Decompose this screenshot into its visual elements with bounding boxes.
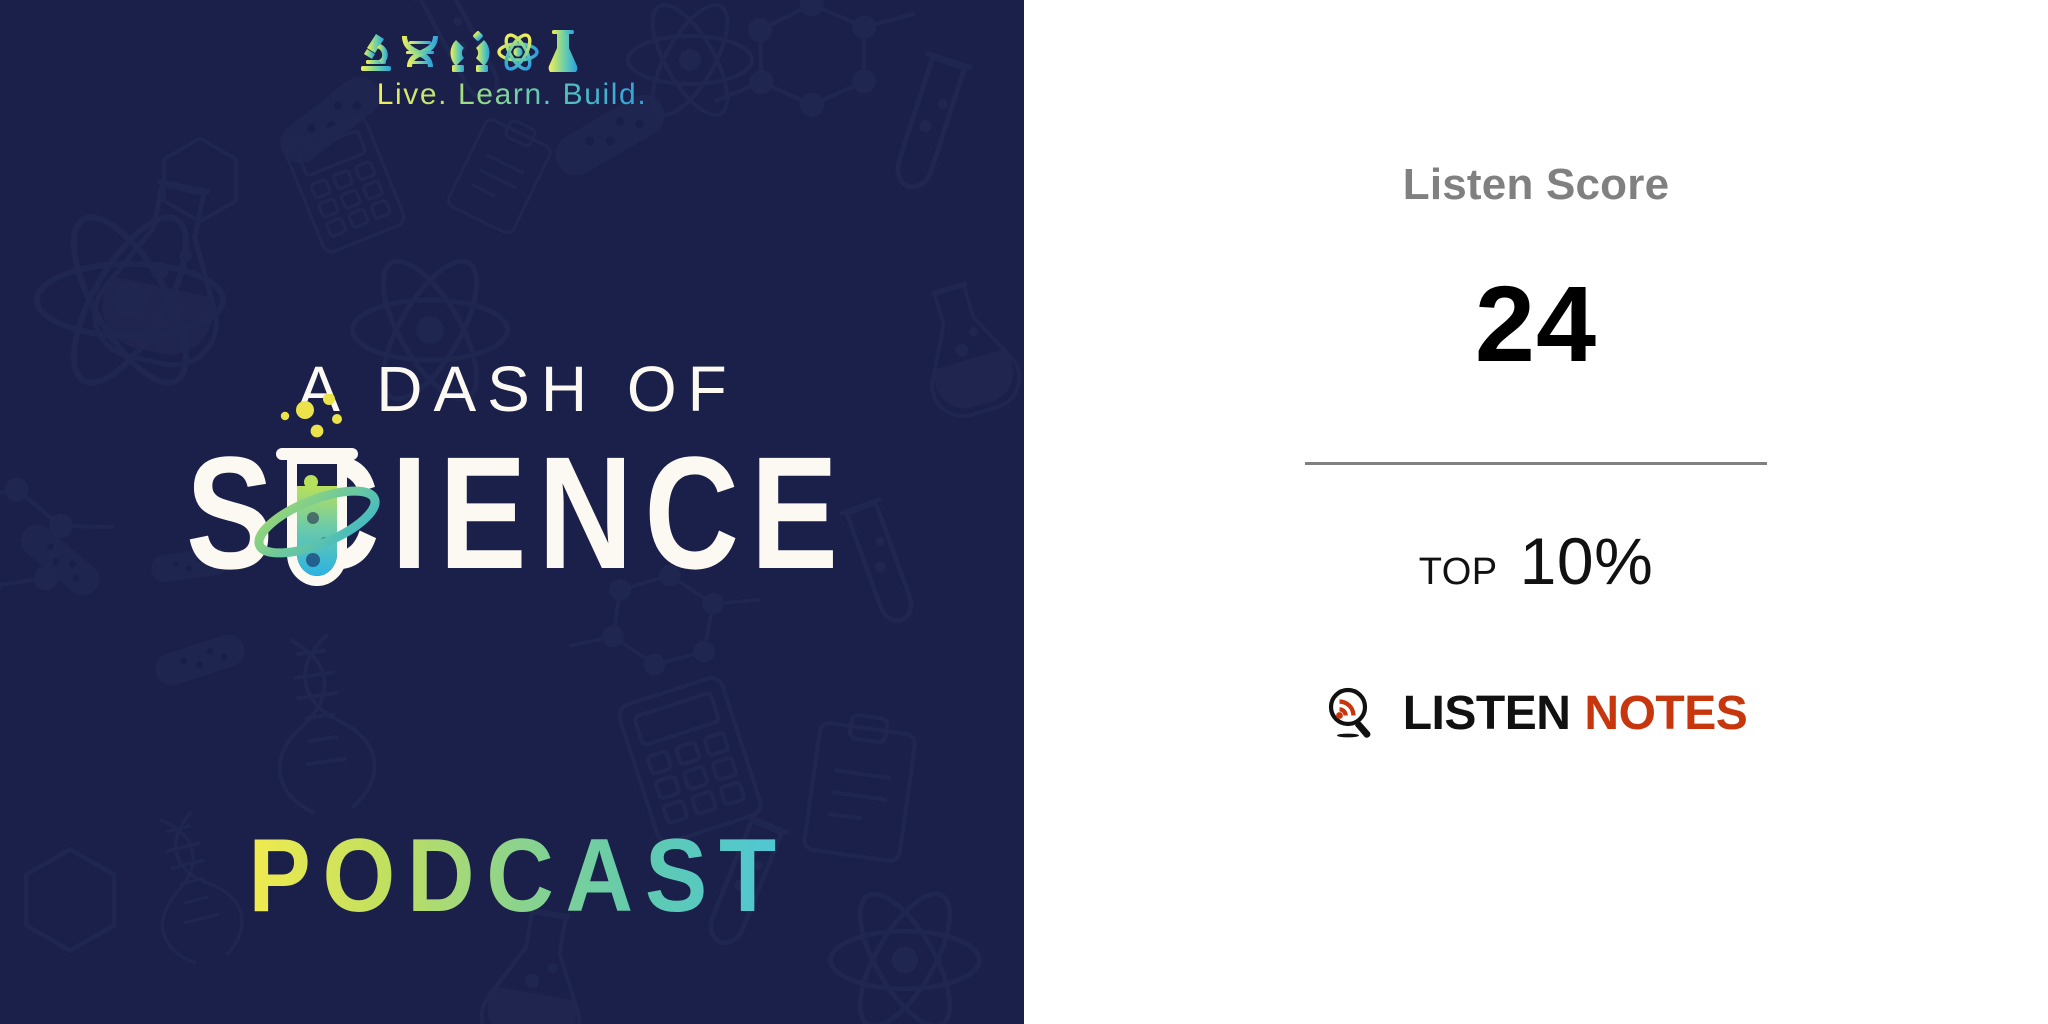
cover-title-line1: A DASH OF: [0, 352, 1024, 426]
podcast-cover-art[interactable]: Live. Learn. Build. A DASH OF SCIENCE: [0, 0, 1024, 1024]
rank-value: 10%: [1520, 523, 1654, 599]
magnifier-rss-icon: [1325, 685, 1381, 741]
brand-badge: Live. Learn. Build.: [0, 26, 1024, 112]
listen-notes-brand[interactable]: LISTENNOTES: [1024, 685, 2048, 741]
listen-score-value: 24: [1024, 270, 2048, 378]
rank-row: TOP 10%: [1024, 523, 2048, 599]
microscope-icon: [361, 34, 391, 71]
listen-score-panel: Listen Score 24 TOP 10% LISTENNOT: [1024, 0, 2048, 1024]
listen-score-title: Listen Score: [1024, 160, 2048, 210]
test-tube-icon: [251, 394, 383, 608]
cover-title-block: A DASH OF SCIENCE: [0, 352, 1024, 588]
podcast-label: PODCAST: [236, 824, 787, 928]
cover-title-line2: SCIENCE: [92, 438, 932, 588]
cover-footer-block: PODCAST: [0, 824, 1024, 928]
bubbles: [281, 394, 342, 437]
badge-icon-row: [352, 26, 672, 72]
flask-icon: [549, 30, 578, 72]
cover-title-line2-wrap: SCIENCE: [0, 438, 1024, 588]
magnet-icon: [450, 30, 489, 72]
atom-icon: [499, 32, 537, 72]
brand-word-listen: LISTEN: [1403, 687, 1571, 740]
tagline: Live. Learn. Build.: [377, 78, 648, 112]
rank-label: TOP: [1419, 551, 1498, 594]
dna-icon: [402, 36, 438, 67]
brand-wordmark: LISTENNOTES: [1403, 686, 1748, 741]
brand-word-notes: NOTES: [1584, 687, 1747, 740]
rss-waves: [1336, 699, 1356, 719]
divider: [1305, 462, 1767, 465]
